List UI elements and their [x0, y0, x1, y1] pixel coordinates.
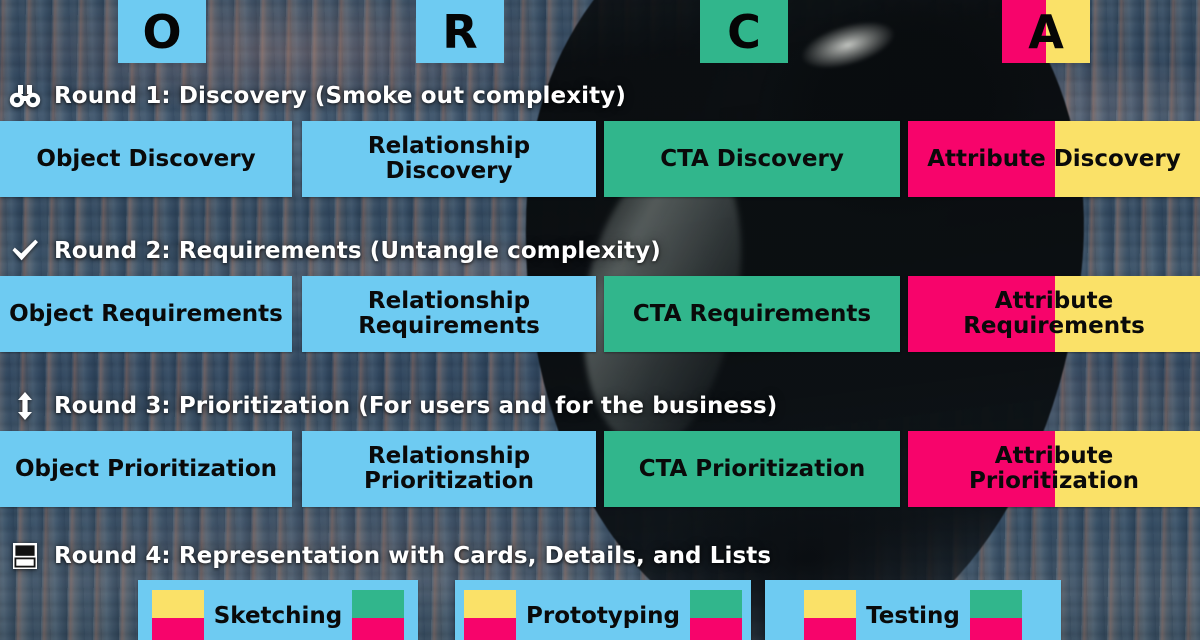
letter-badge-glyph: C [727, 9, 761, 55]
round-header-3: Round 3: Prioritization (For users and f… [8, 389, 777, 423]
bar-attribute-r1[interactable]: Attribute Discovery [908, 121, 1200, 197]
letter-badge-glyph: O [142, 9, 181, 55]
bar-cta-r1[interactable]: CTA Discovery [604, 121, 900, 197]
bar-attribute-r3[interactable]: Attribute Prioritization [908, 431, 1200, 507]
bar-label: Object Requirements [1, 302, 291, 327]
round-title: Round 1: Discovery (Smoke out complexity… [54, 83, 626, 109]
bar-attribute-r2[interactable]: Attribute Requirements [908, 276, 1200, 352]
bar-object-r2[interactable]: Object Requirements [0, 276, 292, 352]
round-title: Round 3: Prioritization (For users and f… [54, 393, 777, 419]
letter-badge-relationship: R [416, 0, 504, 63]
letter-badge-cta: C [700, 0, 788, 63]
bar-label: CTA Discovery [652, 147, 852, 172]
artefact-swatch-right [352, 590, 404, 640]
letter-badge-glyph: A [1028, 9, 1064, 55]
bar-label: Object Prioritization [7, 457, 285, 482]
swatch-pink [464, 618, 516, 640]
bar-relationship-r1[interactable]: Relationship Discovery [302, 121, 596, 197]
bar-label: Attribute Requirements [908, 289, 1200, 339]
swatch-pink [804, 618, 856, 640]
artefact-label: Testing [866, 603, 960, 629]
card-icon [8, 541, 42, 571]
swatch-yellow [152, 590, 204, 618]
swatch-green [690, 590, 742, 618]
bar-label: Relationship Requirements [302, 289, 596, 339]
artefact-swatch-left [464, 590, 516, 640]
letter-badge-glyph: R [442, 9, 477, 55]
up-down-arrow-icon [8, 391, 42, 421]
swatch-pink [970, 618, 1022, 640]
bar-object-r3[interactable]: Object Prioritization [0, 431, 292, 507]
artefact-card-prototyping[interactable]: Prototyping [455, 580, 751, 640]
bar-label: Attribute Prioritization [908, 444, 1200, 494]
artefact-swatch-right [690, 590, 742, 640]
slide-content: ORCARound 1: Discovery (Smoke out comple… [0, 0, 1200, 640]
bar-cta-r2[interactable]: CTA Requirements [604, 276, 900, 352]
bar-label: Relationship Prioritization [302, 444, 596, 494]
bar-relationship-r3[interactable]: Relationship Prioritization [302, 431, 596, 507]
checkmark-icon [8, 236, 42, 266]
round-header-4: Round 4: Representation with Cards, Deta… [8, 539, 771, 573]
artefact-card-sketching[interactable]: Sketching [138, 580, 418, 640]
bar-label: CTA Requirements [625, 302, 879, 327]
orca-rounds-slide: ORCARound 1: Discovery (Smoke out comple… [0, 0, 1200, 640]
letter-badge-attribute: A [1002, 0, 1090, 63]
swatch-pink [152, 618, 204, 640]
letter-badge-object: O [118, 0, 206, 63]
artefact-card-testing[interactable]: Testing [765, 580, 1061, 640]
round-header-2: Round 2: Requirements (Untangle complexi… [8, 234, 661, 268]
swatch-green [970, 590, 1022, 618]
round-title: Round 4: Representation with Cards, Deta… [54, 543, 771, 569]
artefact-swatch-left [804, 590, 856, 640]
artefact-swatch-left [152, 590, 204, 640]
bar-label: CTA Prioritization [631, 457, 874, 482]
round-header-1: Round 1: Discovery (Smoke out complexity… [8, 79, 626, 113]
swatch-green [352, 590, 404, 618]
binoculars-icon [8, 81, 42, 111]
bar-label: Attribute Discovery [919, 147, 1188, 172]
artefact-swatch-right [970, 590, 1022, 640]
artefact-label: Sketching [214, 603, 343, 629]
artefact-label: Prototyping [526, 603, 680, 629]
bar-label: Relationship Discovery [302, 134, 596, 184]
swatch-yellow [804, 590, 856, 618]
swatch-yellow [464, 590, 516, 618]
swatch-pink [352, 618, 404, 640]
bar-cta-r3[interactable]: CTA Prioritization [604, 431, 900, 507]
bar-object-r1[interactable]: Object Discovery [0, 121, 292, 197]
bar-label: Object Discovery [28, 147, 263, 172]
bar-relationship-r2[interactable]: Relationship Requirements [302, 276, 596, 352]
swatch-pink [690, 618, 742, 640]
round-title: Round 2: Requirements (Untangle complexi… [54, 238, 661, 264]
